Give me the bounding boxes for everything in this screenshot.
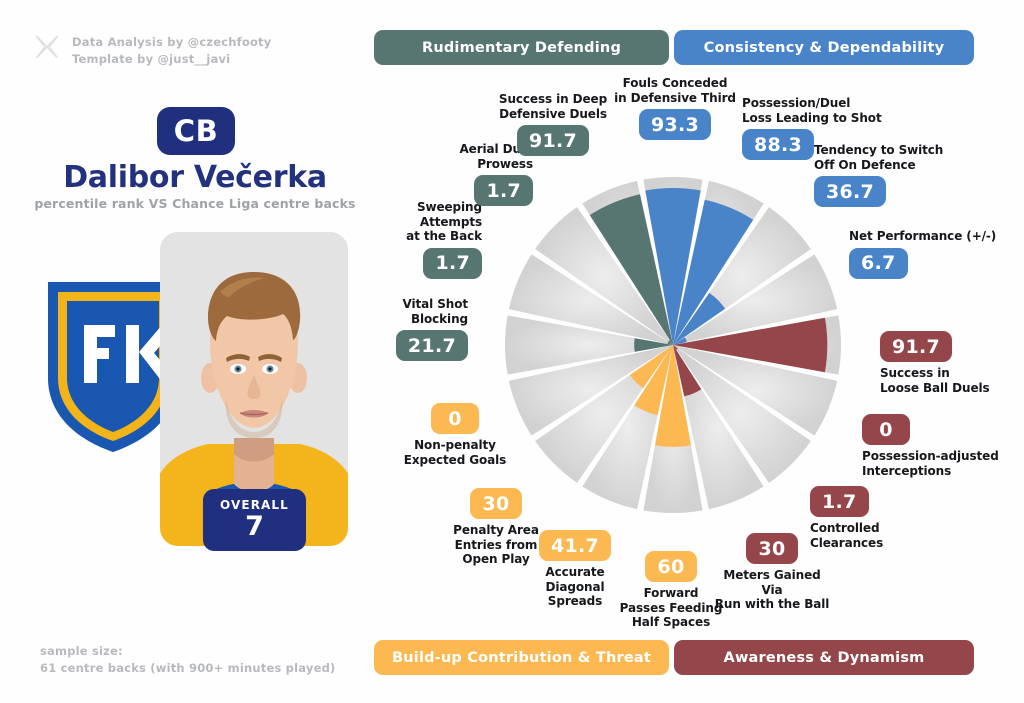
metric-value: 36.7 bbox=[814, 176, 886, 207]
metric-value: 1.7 bbox=[474, 175, 533, 206]
metric-non-penalty-expected-goals: 0 Non-penalty Expected Goals bbox=[396, 403, 514, 467]
metric-success-in-loose-ball-duels: 91.7 Success in Loose Ball Duels bbox=[880, 331, 1024, 395]
metric-value: 30 bbox=[746, 533, 797, 564]
legend-top: Rudimentary Defending Consistency & Depe… bbox=[374, 30, 974, 65]
sample-size: sample size: 61 centre backs (with 900+ … bbox=[40, 643, 335, 678]
metric-value: 6.7 bbox=[849, 248, 908, 279]
metric-meters-gained-via-run-with-the-ball: 30 Meters Gained Via Run with the Ball bbox=[712, 533, 832, 612]
metric-label: Non-penalty Expected Goals bbox=[404, 438, 506, 467]
sample-line-2: 61 centre backs (with 900+ minutes playe… bbox=[40, 660, 335, 677]
metric-vital-shot-blocking: Vital Shot Blocking 21.7 bbox=[370, 297, 468, 361]
metric-label: Vital Shot Blocking bbox=[403, 297, 468, 326]
metric-label: Forward Passes Feeding Half Spaces bbox=[620, 586, 723, 630]
page-title: Dalibor Večerka bbox=[0, 160, 390, 195]
sample-line-1: sample size: bbox=[40, 643, 335, 660]
metric-value: 21.7 bbox=[396, 330, 468, 361]
credit-block: Data Analysis by @czechfooty Template by… bbox=[34, 34, 271, 67]
metric-sweeping-attempts-at-the-back: Sweeping Attempts at the Back 1.7 bbox=[386, 200, 482, 279]
metric-value: 91.7 bbox=[880, 331, 952, 362]
metric-net-performance: Net Performance (+/-) 6.7 bbox=[849, 229, 1021, 279]
metric-value: 91.7 bbox=[517, 125, 589, 156]
metric-value: 1.7 bbox=[810, 486, 869, 517]
metric-tendency-to-switch-off-on-defence: Tendency to Switch Off On Defence 36.7 bbox=[814, 143, 984, 207]
metric-label: Sweeping Attempts at the Back bbox=[406, 200, 482, 244]
legend-rudimentary-defending[interactable]: Rudimentary Defending bbox=[374, 30, 669, 65]
legend-awareness-dynamism[interactable]: Awareness & Dynamism bbox=[674, 640, 974, 675]
x-logo-icon bbox=[34, 34, 60, 60]
metric-value: 60 bbox=[645, 551, 696, 582]
overall-label: OVERALL bbox=[220, 498, 289, 512]
credit-line-2: Template by @just__javi bbox=[72, 51, 271, 68]
player-subtitle: percentile rank VS Chance Liga centre ba… bbox=[0, 196, 390, 211]
position-badge: CB bbox=[157, 107, 235, 155]
metric-value: 1.7 bbox=[423, 248, 482, 279]
credit-lines: Data Analysis by @czechfooty Template by… bbox=[72, 34, 271, 67]
metric-label: Net Performance (+/-) bbox=[849, 229, 996, 244]
infographic-root: Data Analysis by @czechfooty Template by… bbox=[0, 0, 1024, 703]
metric-label: Possession-adjusted Interceptions bbox=[862, 449, 999, 478]
metric-label: Accurate Diagonal Spreads bbox=[545, 565, 604, 609]
legend-consistency-dependability[interactable]: Consistency & Dependability bbox=[674, 30, 974, 65]
metric-possession-adjusted-interceptions: 0 Possession-adjusted Interceptions bbox=[862, 414, 1024, 478]
metric-label: Possession/Duel Loss Leading to Shot bbox=[742, 96, 882, 125]
legend-bottom: Build-up Contribution & Threat Awareness… bbox=[374, 640, 974, 675]
overall-value: 7 bbox=[245, 513, 264, 541]
metric-label: Success in Loose Ball Duels bbox=[880, 366, 990, 395]
metric-value: 0 bbox=[862, 414, 910, 445]
overall-badge: OVERALL 7 bbox=[203, 489, 306, 551]
credit-line-1: Data Analysis by @czechfooty bbox=[72, 34, 271, 51]
metric-value: 0 bbox=[431, 403, 479, 434]
metric-label: Success in Deep Defensive Duels bbox=[499, 92, 607, 121]
metric-success-in-deep-defensive-duels: Success in Deep Defensive Duels 91.7 bbox=[492, 92, 614, 156]
metric-value: 88.3 bbox=[742, 129, 814, 160]
legend-buildup-contribution-threat[interactable]: Build-up Contribution & Threat bbox=[374, 640, 669, 675]
metric-label: Tendency to Switch Off On Defence bbox=[814, 143, 943, 172]
metric-value: 93.3 bbox=[639, 109, 711, 140]
metric-value: 30 bbox=[470, 488, 521, 519]
metric-label: Meters Gained Via Run with the Ball bbox=[712, 568, 832, 612]
metric-label: Penalty Area Entries from Open Play bbox=[453, 523, 539, 567]
metric-forward-passes-feeding-half-spaces: 60 Forward Passes Feeding Half Spaces bbox=[612, 551, 730, 630]
metric-penalty-area-entries-from-open-play: 30 Penalty Area Entries from Open Play bbox=[440, 488, 552, 567]
metric-fouls-conceded-in-defensive-third: Fouls Conceded in Defensive Third 93.3 bbox=[595, 76, 755, 140]
metric-label: Fouls Conceded in Defensive Third bbox=[614, 76, 736, 105]
